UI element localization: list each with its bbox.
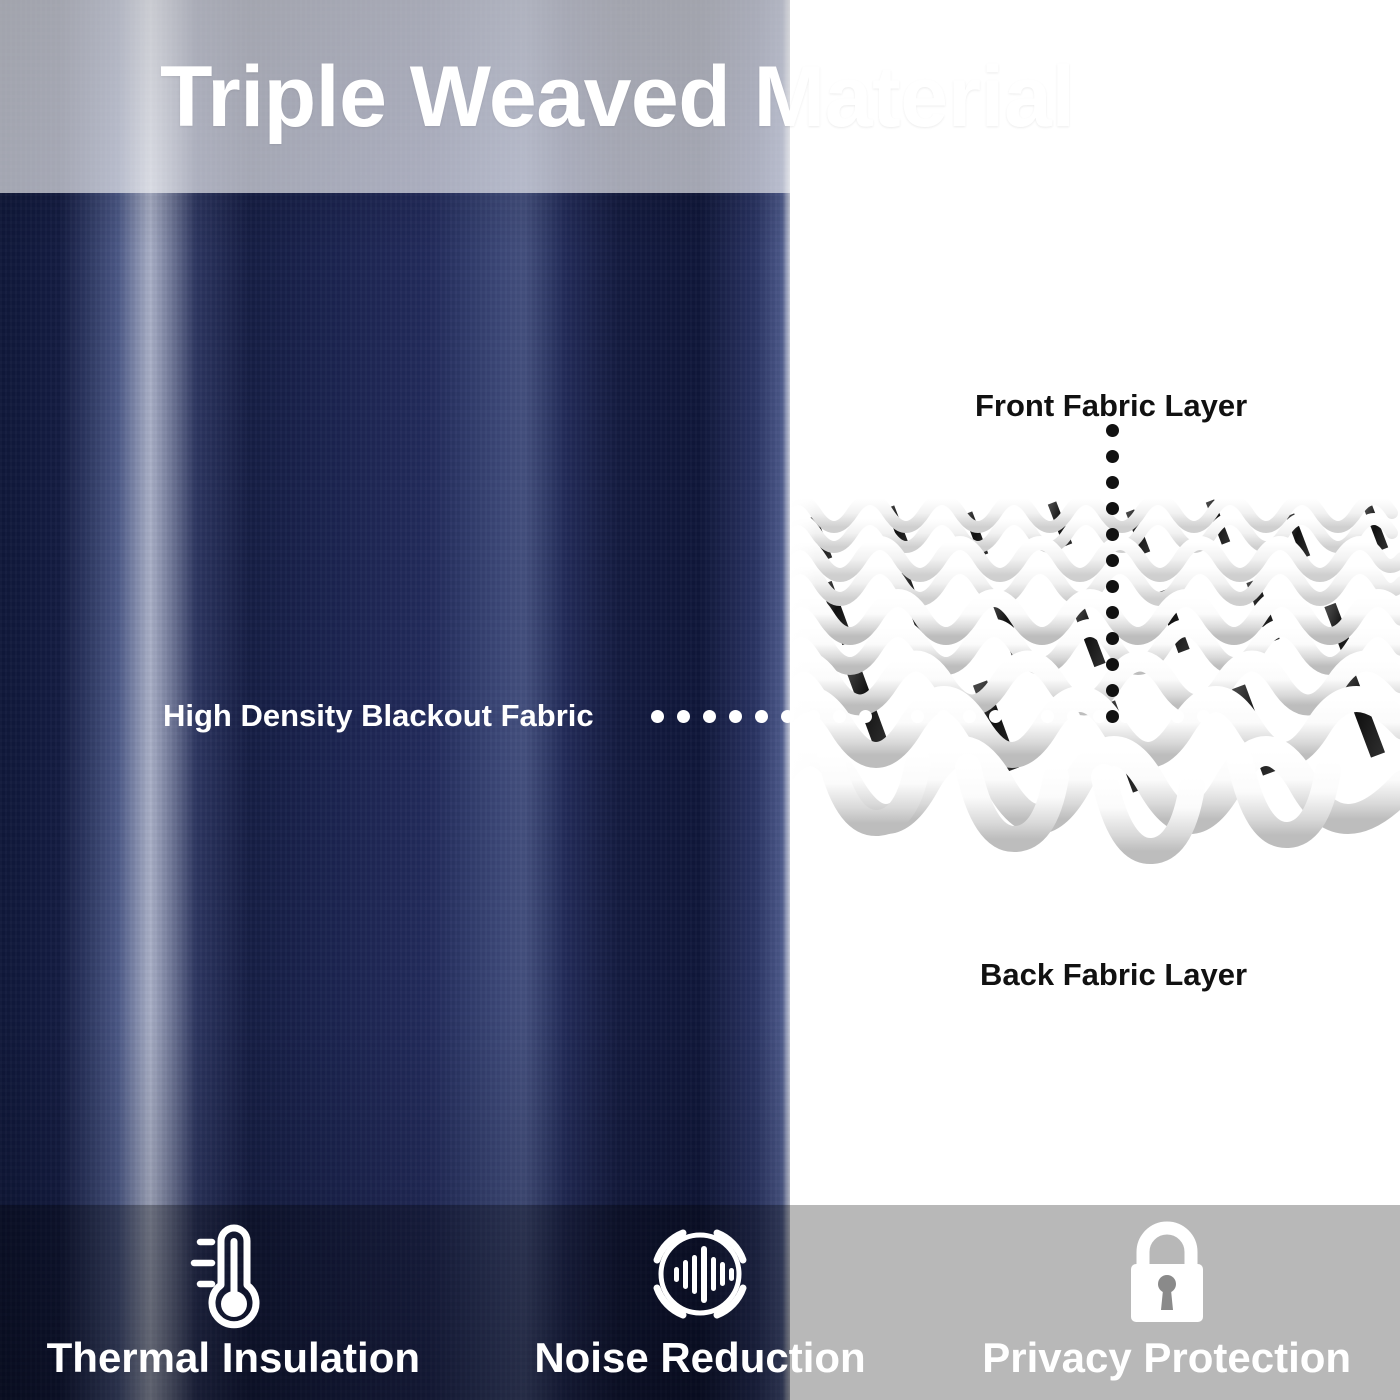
woven-fabric-illustration [790, 455, 1400, 865]
horizontal-leader-dots [651, 710, 1211, 724]
leader-dot [989, 710, 1002, 723]
feature-label: Privacy Protection [982, 1337, 1351, 1379]
infographic-canvas: Front Fabric Layer Back Fabric Layer Hig… [0, 0, 1400, 1400]
leader-dot [677, 710, 690, 723]
leader-dot [1197, 710, 1210, 723]
page-title: Triple Weaved Material [160, 54, 1075, 140]
leader-dot [781, 710, 794, 723]
leader-dot [1106, 450, 1119, 463]
leader-dot [1106, 684, 1119, 697]
leader-dot [1106, 632, 1119, 645]
leader-dot [729, 710, 742, 723]
leader-dot [1015, 710, 1028, 723]
leader-dot [807, 710, 820, 723]
leader-dot [1145, 710, 1158, 723]
blackout-fabric-label: High Density Blackout Fabric [163, 698, 594, 734]
feature-privacy-protection[interactable]: Privacy Protection [933, 1205, 1400, 1400]
leader-dot [1106, 424, 1119, 437]
leader-dot [963, 710, 976, 723]
leader-dot [703, 710, 716, 723]
leader-dot [755, 710, 768, 723]
feature-thermal-insulation[interactable]: Thermal Insulation [0, 1205, 467, 1400]
thermometer-icon [190, 1215, 276, 1333]
feature-bar: Thermal Insulation [0, 1205, 1400, 1400]
leader-dot [1041, 710, 1054, 723]
leader-dot [885, 710, 898, 723]
leader-dot [911, 710, 924, 723]
leader-dot [859, 710, 872, 723]
weave-white-threads-back [790, 499, 1400, 599]
back-fabric-layer-label: Back Fabric Layer [980, 957, 1247, 993]
feature-label: Thermal Insulation [47, 1337, 420, 1379]
leader-dot [833, 710, 846, 723]
leader-dot [1119, 710, 1132, 723]
front-fabric-layer-label: Front Fabric Layer [975, 388, 1247, 424]
leader-dot [1106, 606, 1119, 619]
leader-dot [1106, 502, 1119, 515]
leader-dot [1067, 710, 1080, 723]
soundwave-icon [641, 1215, 759, 1333]
leader-dot [1106, 658, 1119, 671]
feature-label: Noise Reduction [534, 1337, 865, 1379]
leader-dot [1171, 710, 1184, 723]
vertical-leader-dots [1106, 424, 1120, 714]
leader-dot [1093, 710, 1106, 723]
leader-dot [1106, 554, 1119, 567]
leader-dot [1106, 710, 1119, 723]
leader-dot [937, 710, 950, 723]
feature-noise-reduction[interactable]: Noise Reduction [467, 1205, 934, 1400]
header-banner: Triple Weaved Material [0, 0, 1400, 193]
leader-dot [1106, 476, 1119, 489]
leader-dot [651, 710, 664, 723]
leader-dot [1106, 528, 1119, 541]
padlock-icon [1113, 1215, 1221, 1333]
leader-dot [1106, 580, 1119, 593]
